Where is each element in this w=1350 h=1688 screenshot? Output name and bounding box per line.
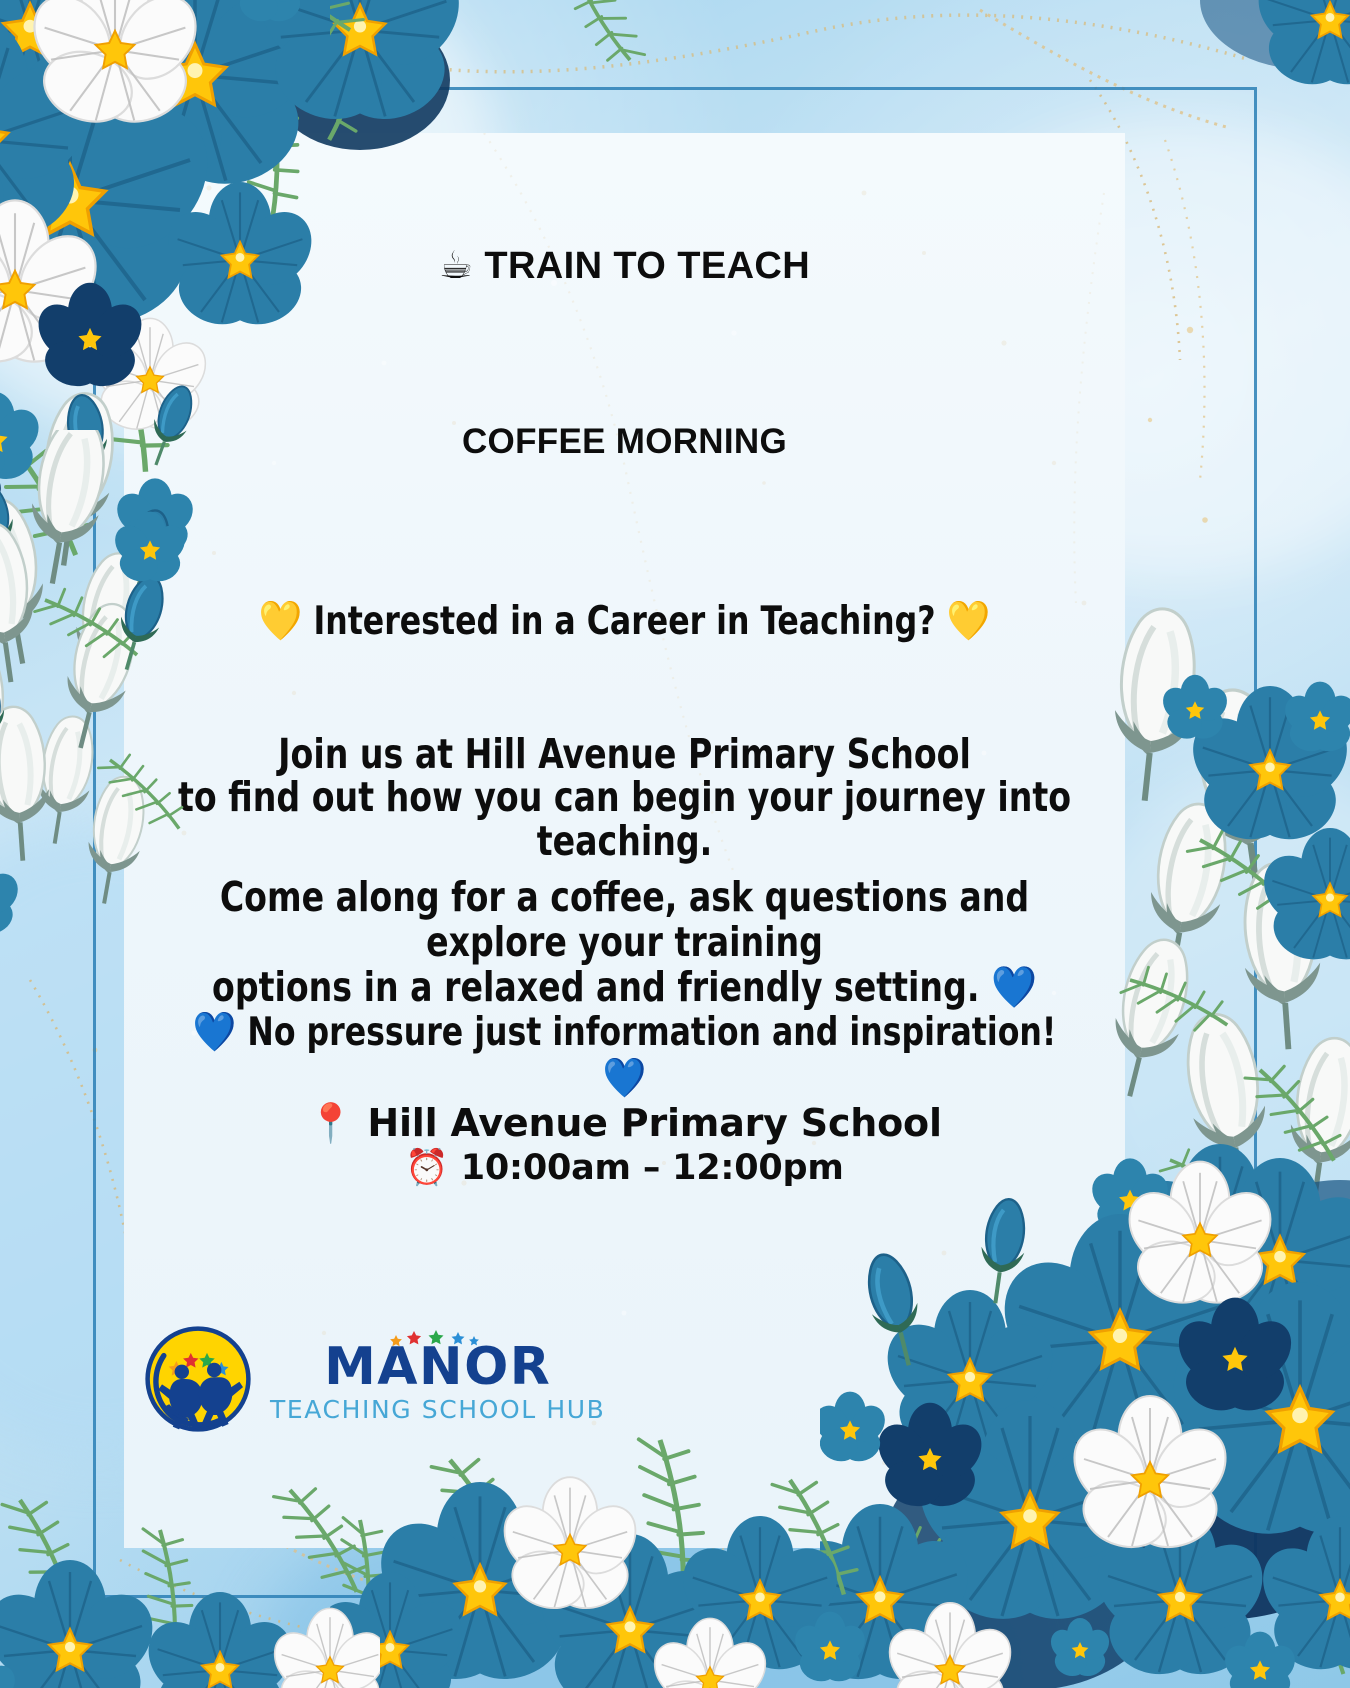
venue-location-row: 📍 Hill Avenue Primary School <box>124 1103 1125 1145</box>
venue-location-text: Hill Avenue Primary School <box>367 1101 941 1145</box>
come-line-1: Come along for a coffee, ask questions a… <box>174 875 1075 965</box>
event-subtitle: COFFEE MORNING <box>124 422 1125 462</box>
question-line: 💛 Interested in a Career in Teaching? 💛 <box>174 598 1075 644</box>
no-pressure-text: No pressure just information and inspira… <box>247 1010 1056 1055</box>
blue-heart-icon-trailing: 💙 <box>991 963 1037 1011</box>
poster-content: ☕ TRAIN TO TEACH COFFEE MORNING 💛 Intere… <box>124 133 1125 1548</box>
blue-heart-icon-left: 💙 <box>193 1010 237 1055</box>
join-invitation-block: Join us at Hill Avenue Primary School to… <box>174 733 1075 863</box>
location-pin-icon: 📍 <box>307 1101 354 1145</box>
logo-wordmark: MANOR TEACHING SCHOOL HUB <box>270 1337 605 1422</box>
venue-time-text: 10:00am – 12:00pm <box>461 1148 844 1188</box>
question-line-text: Interested in a Career in Teaching? <box>313 599 935 644</box>
page-title: ☕ TRAIN TO TEACH <box>124 243 1125 288</box>
logo-stars-icon <box>388 1327 508 1349</box>
yellow-heart-icon-left: 💛 <box>259 599 303 644</box>
come-line-2-wrap: options in a relaxed and friendly settin… <box>174 965 1075 1010</box>
blue-heart-icon-right: 💙 <box>603 1056 647 1101</box>
come-line-2: options in a relaxed and friendly settin… <box>212 963 979 1011</box>
venue-details: 📍 Hill Avenue Primary School ⏰ 10:00am –… <box>124 1103 1125 1187</box>
logo-tagline-text: TEACHING SCHOOL HUB <box>270 1397 605 1422</box>
manor-circle-mark-icon <box>144 1325 252 1433</box>
venue-time-row: ⏰ 10:00am – 12:00pm <box>124 1149 1125 1188</box>
join-line-1: Join us at Hill Avenue Primary School <box>174 733 1075 776</box>
coffee-cup-icon: ☕ <box>439 243 473 287</box>
come-along-block: Come along for a coffee, ask questions a… <box>174 875 1075 1010</box>
manor-teaching-school-hub-logo: MANOR TEACHING SCHOOL HUB <box>144 1325 605 1433</box>
poster-root: ☕ TRAIN TO TEACH COFFEE MORNING 💛 Intere… <box>0 0 1350 1688</box>
yellow-heart-icon-right: 💛 <box>947 599 991 644</box>
alarm-clock-icon: ⏰ <box>405 1148 448 1188</box>
page-title-text: TRAIN TO TEACH <box>484 245 810 287</box>
no-pressure-line: 💙 No pressure just information and inspi… <box>174 1009 1075 1101</box>
join-line-2: to find out how you can begin your journ… <box>174 776 1075 863</box>
